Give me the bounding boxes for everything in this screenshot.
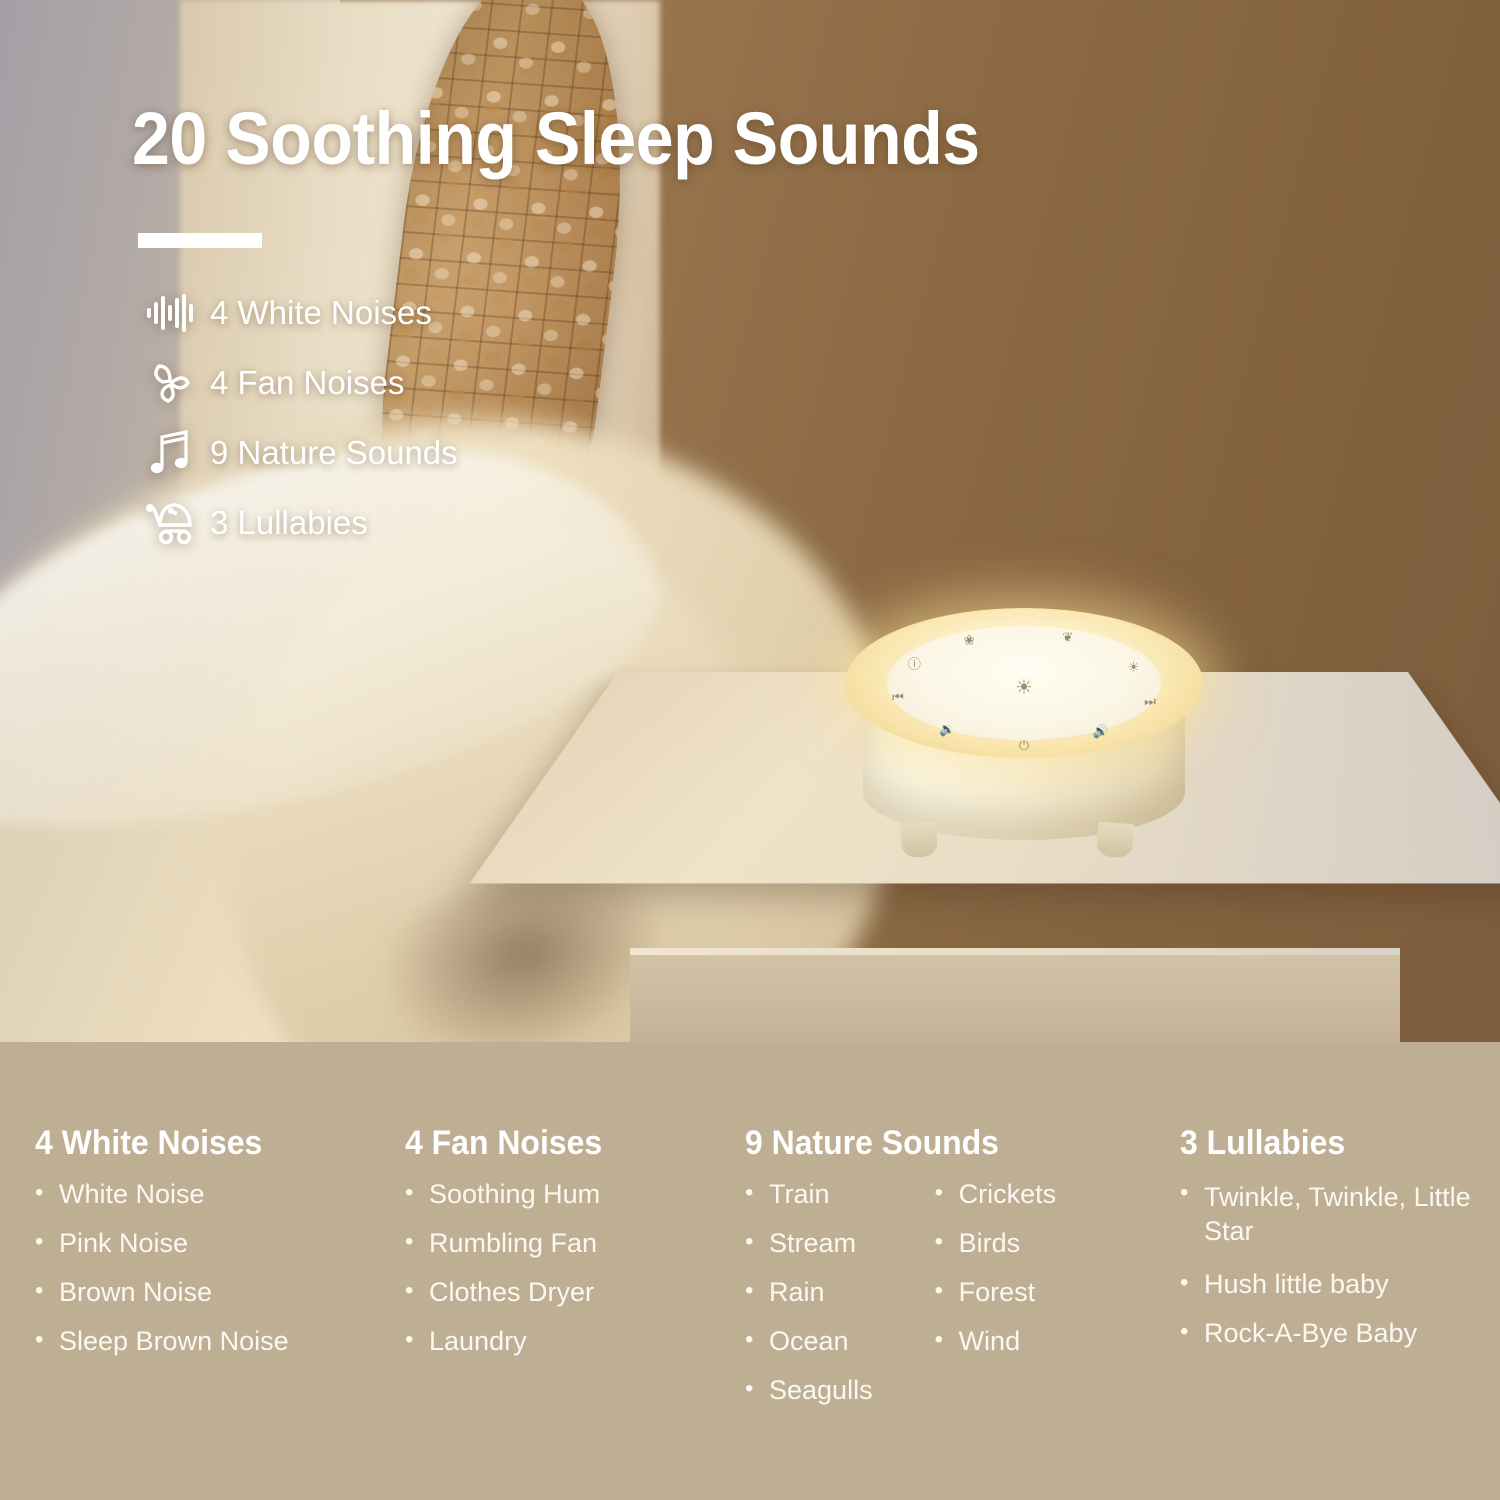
device-foot-left [900,822,938,858]
feature-row-white-noises: 4 White Noises [132,278,458,348]
sound-name: White Noise [59,1181,205,1208]
list-item: •Rumbling Fan [405,1230,600,1257]
sound-list: •Twinkle, Twinkle, Little Star •Hush lit… [1180,1181,1480,1347]
sound-name: Stream [769,1230,856,1257]
list-item: •Seagulls [745,1377,873,1404]
bullet-icon: • [1180,1271,1204,1295]
feature-label: 4 Fan Noises [210,364,404,402]
nightstand-front [630,955,1400,1042]
volume-down-button[interactable]: 🔉 [939,722,955,735]
feature-row-nature-sounds: 9 Nature Sounds [132,418,458,488]
sound-name: Wind [959,1328,1021,1355]
list-item: •Wind [935,1328,1057,1355]
list-item: •Soothing Hum [405,1181,600,1208]
list-item: •Rock-A-Bye Baby [1180,1320,1480,1347]
bullet-icon: • [935,1230,959,1254]
sound-machine-device[interactable]: ❀ ❦ ⓘ ☀ ☀ ⏮ ⏭ 🔉 🔊 ⏻ [845,608,1205,878]
column-heading: 4 Fan Noises [405,1124,602,1163]
spec-column-nature-sounds: 9 Nature Sounds •Train •Stream •Rain •Oc… [745,1124,1056,1426]
device-foot-right [1096,822,1134,858]
sound-name: Hush little baby [1204,1271,1389,1298]
sound-list-left: •Train •Stream •Rain •Ocean •Seagulls [745,1181,873,1426]
fan-sound-button[interactable]: ❀ [964,633,975,646]
next-track-button[interactable]: ⏭ [1144,695,1156,708]
device-control-panel: ❀ ❦ ⓘ ☀ ☀ ⏮ ⏭ 🔉 🔊 ⏻ [887,626,1161,740]
list-item: •Clothes Dryer [405,1279,600,1306]
list-item: •Sleep Brown Noise [35,1328,289,1355]
timer-button[interactable]: ⓘ [908,657,921,670]
bullet-icon: • [745,1230,769,1254]
power-button[interactable]: ⏻ [1019,738,1029,751]
sound-name: Seagulls [769,1377,873,1404]
sound-name: Twinkle, Twinkle, Little Star [1204,1181,1480,1249]
spec-column-lullabies: 3 Lullabies •Twinkle, Twinkle, Little St… [1180,1124,1480,1369]
sound-name: Laundry [429,1328,527,1355]
bullet-icon: • [35,1328,59,1352]
feature-row-lullabies: 3 Lullabies [132,488,458,558]
list-item: •Birds [935,1230,1057,1257]
bullet-icon: • [745,1377,769,1401]
list-item: •Rain [745,1279,873,1306]
sound-name: Soothing Hum [429,1181,600,1208]
list-item: •White Noise [35,1181,289,1208]
column-heading: 4 White Noises [35,1124,273,1163]
sound-name: Pink Noise [59,1230,188,1257]
sound-list-band: 4 White Noises •White Noise •Pink Noise … [0,1042,1500,1500]
sound-name: Forest [959,1279,1036,1306]
bullet-icon: • [35,1181,59,1205]
spec-column-white-noises: 4 White Noises •White Noise •Pink Noise … [35,1124,289,1377]
bullet-icon: • [935,1328,959,1352]
bullet-icon: • [745,1181,769,1205]
sound-name: Clothes Dryer [429,1279,594,1306]
list-item: •Ocean [745,1328,873,1355]
feature-list: 4 White Noises 4 Fan Noises [132,278,458,558]
feature-label: 4 White Noises [210,294,432,332]
sound-columns: 4 White Noises •White Noise •Pink Noise … [0,1042,1500,1500]
bullet-icon: • [935,1181,959,1205]
list-item: •Train [745,1181,873,1208]
bullet-icon: • [405,1230,429,1254]
sound-name: Crickets [959,1181,1057,1208]
sound-name: Brown Noise [59,1279,212,1306]
bullet-icon: • [405,1328,429,1352]
sound-list: •White Noise •Pink Noise •Brown Noise •S… [35,1181,289,1377]
bullet-icon: • [935,1279,959,1303]
sound-name: Train [769,1181,830,1208]
page-title: 20 Soothing Sleep Sounds [132,96,980,181]
list-item: •Crickets [935,1181,1057,1208]
bullet-icon: • [745,1279,769,1303]
list-item: •Stream [745,1230,873,1257]
stroller-icon [132,499,210,547]
waveform-icon [132,292,210,334]
bullet-icon: • [35,1230,59,1254]
list-item: •Forest [935,1279,1057,1306]
feature-row-fan-noises: 4 Fan Noises [132,348,458,418]
bullet-icon: • [405,1181,429,1205]
bullet-icon: • [1180,1320,1204,1344]
spec-column-fan-noises: 4 Fan Noises •Soothing Hum •Rumbling Fan… [405,1124,615,1377]
sound-list-right: •Crickets •Birds •Forest •Wind [935,1181,1057,1426]
title-underline-rule [138,233,262,248]
device-light-ring: ❀ ❦ ⓘ ☀ ☀ ⏮ ⏭ 🔉 🔊 ⏻ [845,608,1203,758]
feature-label: 9 Nature Sounds [210,434,458,472]
list-item: •Pink Noise [35,1230,289,1257]
hero-photo: ❀ ❦ ⓘ ☀ ☀ ⏮ ⏭ 🔉 🔊 ⏻ 20 Soothing Sleep So… [0,0,1500,1042]
sound-name: Rumbling Fan [429,1230,597,1257]
sound-list: •Soothing Hum •Rumbling Fan •Clothes Dry… [405,1181,600,1377]
sound-name: Birds [959,1230,1021,1257]
fan-icon [132,358,210,408]
sound-name: Rain [769,1279,825,1306]
list-item: •Twinkle, Twinkle, Little Star [1180,1181,1480,1249]
feature-label: 3 Lullabies [210,504,368,542]
volume-up-button[interactable]: 🔊 [1093,724,1109,737]
nature-sound-button[interactable]: ❦ [1062,631,1073,644]
list-item: •Hush little baby [1180,1271,1480,1298]
list-item: •Laundry [405,1328,600,1355]
previous-track-button[interactable]: ⏮ [892,690,904,703]
brightness-button[interactable]: ☀ [1015,678,1033,698]
bullet-icon: • [405,1279,429,1303]
list-item: •Brown Noise [35,1279,289,1306]
bullet-icon: • [745,1328,769,1352]
sound-name: Ocean [769,1328,849,1355]
sound-name: Rock-A-Bye Baby [1204,1320,1417,1347]
column-heading: 9 Nature Sounds [745,1124,1037,1163]
night-light-button[interactable]: ☀ [1128,661,1140,674]
column-heading: 3 Lullabies [1180,1124,1462,1163]
bullet-icon: • [1180,1181,1204,1205]
sound-name: Sleep Brown Noise [59,1328,289,1355]
music-note-icon [132,429,210,477]
bullet-icon: • [35,1279,59,1303]
